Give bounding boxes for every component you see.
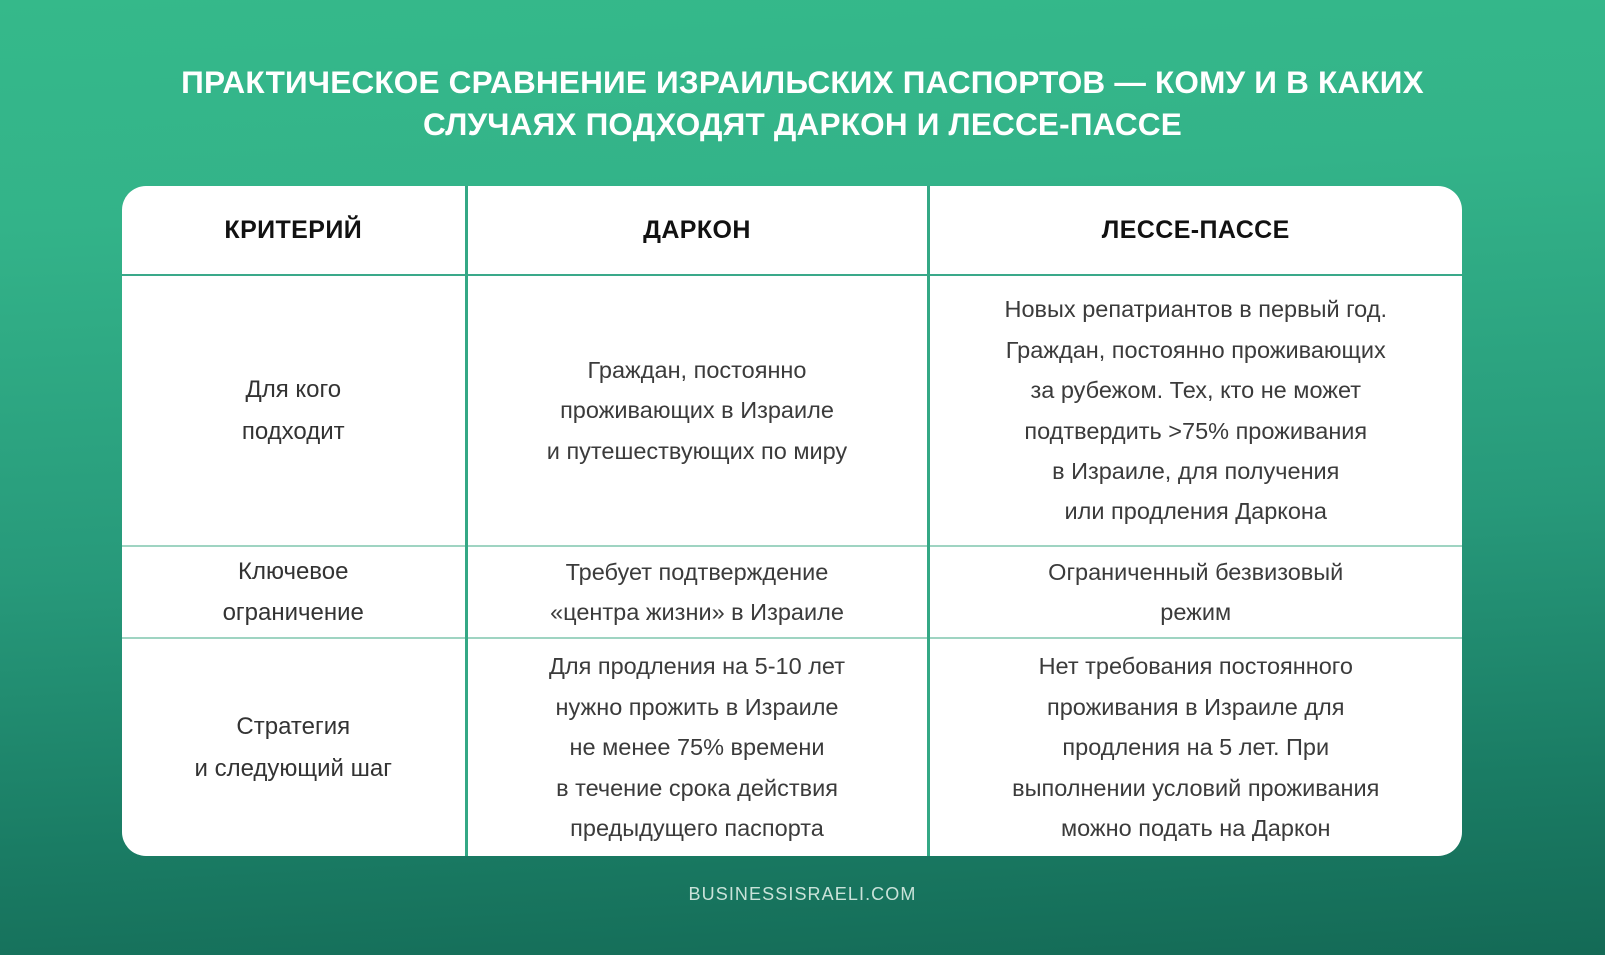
source-label: BUSINESSISRAELI.COM	[689, 884, 917, 904]
table-row: Для кого подходит Граждан, постоянно про…	[122, 275, 1462, 546]
cell-laissez-who: Новых репатриантов в первый год. Граждан…	[928, 275, 1462, 546]
table-row: Стратегия и следующий шаг Для продления …	[122, 638, 1462, 856]
table-header-row: КРИТЕРИЙ ДАРКОН ЛЕССЕ-ПАССЕ	[122, 186, 1462, 275]
cell-darkon-plan: Для продления на 5-10 лет нужно прожить …	[466, 638, 928, 856]
cell-darkon-limit: Требует подтверждение «центра жизни» в И…	[466, 546, 928, 638]
cell-darkon-who: Граждан, постоянно проживающих в Израиле…	[466, 275, 928, 546]
cell-criterion-plan: Стратегия и следующий шаг	[122, 638, 466, 856]
footer: BUSINESSISRAELI.COM	[0, 884, 1605, 905]
cell-criterion-limit: Ключевое ограничение	[122, 546, 466, 638]
comparison-table-card: КРИТЕРИЙ ДАРКОН ЛЕССЕ-ПАССЕ Для кого под…	[122, 186, 1462, 856]
table-header: КРИТЕРИЙ ДАРКОН ЛЕССЕ-ПАССЕ	[122, 186, 1462, 275]
column-header-criterion: КРИТЕРИЙ	[122, 186, 466, 275]
column-header-darkon: ДАРКОН	[466, 186, 928, 275]
comparison-table: КРИТЕРИЙ ДАРКОН ЛЕССЕ-ПАССЕ Для кого под…	[122, 186, 1462, 856]
cell-laissez-plan: Нет требования постоянного проживания в …	[928, 638, 1462, 856]
cell-criterion-who: Для кого подходит	[122, 275, 466, 546]
page-title: ПРАКТИЧЕСКОЕ СРАВНЕНИЕ ИЗРАИЛЬСКИХ ПАСПО…	[73, 62, 1533, 145]
table-row: Ключевое ограничение Требует подтвержден…	[122, 546, 1462, 638]
infographic-root: ПРАКТИЧЕСКОЕ СРАВНЕНИЕ ИЗРАИЛЬСКИХ ПАСПО…	[0, 0, 1605, 955]
table-body: Для кого подходит Граждан, постоянно про…	[122, 275, 1462, 856]
title-block: ПРАКТИЧЕСКОЕ СРАВНЕНИЕ ИЗРАИЛЬСКИХ ПАСПО…	[73, 62, 1533, 145]
cell-laissez-limit: Ограниченный безвизовый режим	[928, 546, 1462, 638]
column-header-laissez-passer: ЛЕССЕ-ПАССЕ	[928, 186, 1462, 275]
